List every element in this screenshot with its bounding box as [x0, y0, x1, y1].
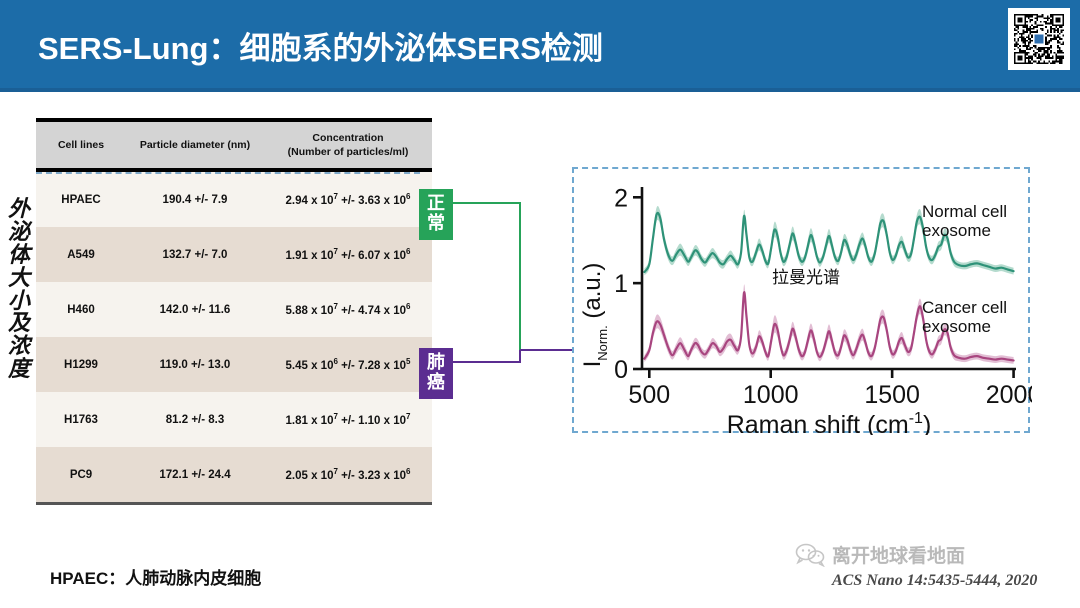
table-header-row: Cell lines Particle diameter (nm) Concen… [36, 120, 432, 170]
x-axis-tick-label: 1000 [743, 381, 799, 409]
cancer-label-char: 肺 [419, 353, 453, 373]
header-underline [0, 88, 1080, 92]
cell-line-value: PC9 [36, 447, 126, 504]
series-label: exosome [922, 221, 991, 240]
x-axis-tick-label: 1500 [864, 381, 920, 409]
table-row: H1299119.0 +/- 13.05.45 x 106 +/- 7.28 x… [36, 337, 432, 392]
table-row: H176381.2 +/- 8.31.81 x 107 +/- 1.10 x 1… [36, 392, 432, 447]
column-header-particle-diameter: Particle diameter (nm) [126, 120, 264, 170]
watermark-text: 离开地球看地面 [832, 541, 965, 568]
concentration-value: 2.05 x 107 +/- 3.23 x 106 [264, 447, 432, 504]
normal-label-char: 常 [419, 214, 453, 234]
cell-line-value: HPAEC [36, 170, 126, 227]
table-row: A549132.7 +/- 7.01.91 x 107 +/- 6.07 x 1… [36, 227, 432, 282]
side-label-char: 泌 [2, 221, 36, 244]
raman-spectra-chart-panel: 012500100015002000Raman shift (cm-1)INor… [572, 167, 1030, 433]
x-axis-tick-label: 2000 [986, 381, 1032, 409]
column-header-cell-lines: Cell lines [36, 120, 126, 170]
series-label: Normal cell [922, 202, 1007, 221]
raman-spectra-chart: 012500100015002000Raman shift (cm-1)INor… [574, 169, 1032, 435]
side-label-char: 小 [2, 290, 36, 313]
side-label-char: 及 [2, 312, 36, 335]
exosome-data-table: Cell lines Particle diameter (nm) Concen… [36, 118, 420, 505]
particle-diameter-value: 142.0 +/- 11.6 [126, 282, 264, 337]
qr-code-image [1014, 14, 1064, 64]
side-label-char: 外 [2, 198, 36, 221]
normal-label-char: 正 [419, 194, 453, 214]
x-axis-tick-label: 500 [628, 381, 670, 409]
qr-code[interactable] [1008, 8, 1070, 70]
particle-diameter-value: 119.0 +/- 13.0 [126, 337, 264, 392]
y-axis-tick-label: 1 [614, 270, 628, 298]
row-separator-dashed [36, 172, 420, 174]
particle-diameter-value: 81.2 +/- 8.3 [126, 392, 264, 447]
side-label-char: 浓 [2, 335, 36, 358]
y-axis-tick-label: 2 [614, 184, 628, 212]
side-label-char: 度 [2, 358, 36, 381]
cell-line-value: H460 [36, 282, 126, 337]
side-label-char: 体 [2, 244, 36, 267]
cancer-label-char: 癌 [419, 373, 453, 393]
citation-text: ACS Nano 14:5435-5444, 2020 [832, 572, 1037, 590]
particle-diameter-value: 190.4 +/- 7.9 [126, 170, 264, 227]
concentration-header-line2: (Number of particles/ml) [288, 146, 409, 158]
vertical-section-label: 外 泌 体 大 小 及 浓 度 [2, 198, 36, 381]
cell-line-value: A549 [36, 227, 126, 282]
page-title: SERS-Lung：细胞系的外泌体SERS检测 [38, 23, 603, 68]
y-axis-tick-label: 0 [614, 356, 628, 384]
cell-line-value: H1763 [36, 392, 126, 447]
table-footnote: HPAEC：人肺动脉内皮细胞 [50, 564, 261, 589]
table-row: H460142.0 +/- 11.65.88 x 107 +/- 4.74 x … [36, 282, 432, 337]
side-label-char: 大 [2, 267, 36, 290]
cell-line-value: H1299 [36, 337, 126, 392]
chart-annotation: 拉曼光谱 [772, 268, 840, 287]
wechat-icon [795, 543, 825, 567]
table-row: HPAEC190.4 +/- 7.92.94 x 107 +/- 3.63 x … [36, 170, 432, 227]
particle-diameter-value: 132.7 +/- 7.0 [126, 227, 264, 282]
watermark: 离开地球看地面 [795, 541, 965, 568]
concentration-header-line1: Concentration [312, 132, 383, 144]
y-axis-title: INorm. (a.u.) [579, 263, 610, 368]
table-row: PC9172.1 +/- 24.42.05 x 107 +/- 3.23 x 1… [36, 447, 432, 504]
series-label: Cancer cell [922, 298, 1007, 317]
particle-diameter-value: 172.1 +/- 24.4 [126, 447, 264, 504]
label-box-normal[interactable]: 正 常 [419, 189, 453, 240]
label-box-lung-cancer[interactable]: 肺 癌 [419, 348, 453, 399]
series-label: exosome [922, 317, 991, 336]
x-axis-title: Raman shift (cm-1) [727, 410, 932, 435]
